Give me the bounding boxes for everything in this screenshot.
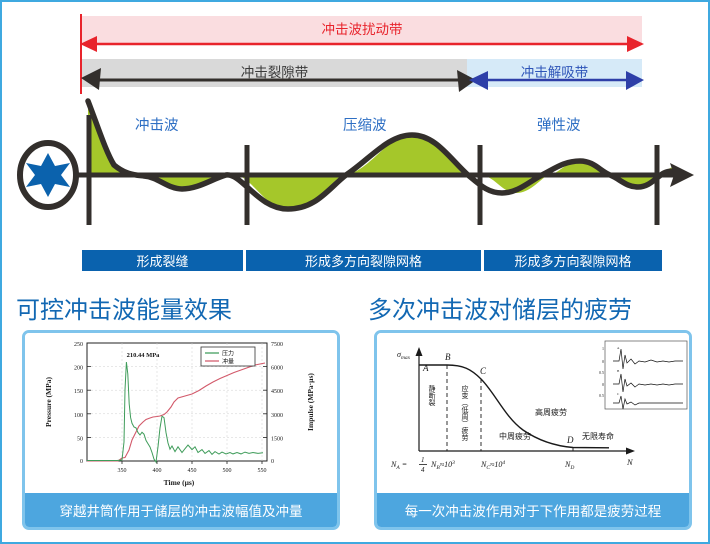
chart-sn-fatigue: σmax N A B C D — [377, 333, 689, 493]
legend-label-pressure: 压力 — [222, 350, 234, 358]
x-axis-title: Time (µs) — [164, 478, 195, 487]
svg-text:1: 1 — [421, 456, 425, 464]
sn-point-c: C — [480, 366, 487, 376]
sn-x-tick-labels: NA = 1 4 NB≈103 NC≈104 ND — [390, 456, 574, 474]
waveform-graphic — [2, 97, 708, 227]
y-axis-left-title: Pressure (MPa) — [44, 377, 53, 427]
svg-text:1: 1 — [602, 346, 604, 351]
y-axis-right-ticks: 7500 6000 4500 3000 1500 0 — [271, 342, 283, 465]
panel-pressure-impulse: 250 200 150 100 50 0 — [22, 330, 340, 530]
peak-annotation: 210.44 MPa — [127, 352, 161, 359]
svg-text:350: 350 — [118, 468, 127, 474]
sn-y-axis-title: σmax — [397, 350, 411, 361]
source-marker — [20, 143, 76, 207]
slide-root: 冲击波扰动带 冲击裂隙带 冲击解吸带 — [0, 0, 710, 544]
svg-text:250: 250 — [74, 342, 83, 348]
caption-fatigue: 每一次冲击波作用对于下作用都是疲劳过程 — [377, 493, 689, 527]
section-fatigue: 多次冲击波对储层的疲劳 σmax N — [360, 290, 708, 542]
chart-pressure-impulse: 250 200 150 100 50 0 — [25, 333, 337, 493]
sn-x-arrowhead — [626, 448, 635, 455]
sn-zone-static: 静断裂 — [428, 384, 436, 407]
svg-text:NC≈104: NC≈104 — [480, 459, 505, 471]
svg-text:3000: 3000 — [271, 413, 283, 419]
y-axis-right-title: Impulse (MPa·µs) — [306, 373, 315, 431]
y-axis-left-ticks: 250 200 150 100 50 0 — [74, 342, 83, 465]
svg-text:7500: 7500 — [271, 342, 283, 348]
sn-point-b: B — [445, 352, 451, 362]
chart-legend: 压力 冲量 — [201, 347, 255, 366]
sn-y-arrowhead — [416, 347, 423, 356]
sn-zone-lowcycle: 应变（低周）疲劳 — [461, 384, 469, 442]
svg-text:550: 550 — [258, 468, 267, 474]
sn-point-d: D — [566, 435, 574, 445]
svg-text:500: 500 — [223, 468, 232, 474]
legend-label-impulse: 冲量 — [222, 358, 234, 366]
caption-energy-effect: 穿越井筒作用于储层的冲击波幅值及冲量 — [25, 493, 337, 527]
svg-text:NA =: NA = — [390, 460, 407, 471]
sn-x-axis-title: N — [626, 457, 634, 467]
svg-text:0: 0 — [602, 382, 604, 387]
process-bar-2: 形成多方向裂隙网格 — [246, 250, 481, 271]
waveform-inset: 1 0 A 0.5 0 B 0.5 C — [599, 341, 687, 409]
section-title-fatigue: 多次冲击波对储层的疲劳 — [368, 290, 632, 325]
sn-zone-highcycle: 高周疲劳 — [535, 407, 567, 417]
svg-text:4: 4 — [421, 466, 425, 474]
svg-text:0.5: 0.5 — [599, 393, 604, 398]
svg-text:0.5: 0.5 — [599, 370, 604, 375]
svg-text:1500: 1500 — [271, 436, 283, 442]
svg-text:450: 450 — [188, 468, 197, 474]
svg-text:50: 50 — [77, 436, 83, 442]
sn-zone-infinite: 无限寿命 — [582, 431, 614, 441]
fracture-arrow — [81, 68, 476, 92]
desorption-arrow — [469, 71, 644, 90]
svg-text:0: 0 — [80, 459, 83, 465]
svg-text:400: 400 — [153, 468, 162, 474]
svg-text:6000: 6000 — [271, 366, 283, 372]
wave-fill — [88, 101, 684, 209]
svg-text:0: 0 — [271, 459, 274, 465]
svg-text:150: 150 — [74, 389, 83, 395]
section-energy-effect: 可控冲击波能量效果 — [8, 290, 356, 542]
panel-sn-curve: σmax N A B C D — [374, 330, 692, 530]
sn-point-a: A — [422, 363, 429, 373]
svg-text:4500: 4500 — [271, 389, 283, 395]
svg-text:NB≈103: NB≈103 — [430, 460, 455, 471]
svg-text:100: 100 — [74, 413, 83, 419]
section-title-energy: 可控冲击波能量效果 — [16, 290, 232, 325]
sn-zone-midcycle: 中周疲劳 — [499, 431, 531, 441]
shockwave-zone-diagram: 冲击波扰动带 冲击裂隙带 冲击解吸带 — [2, 2, 708, 286]
svg-text:ND: ND — [564, 460, 574, 471]
disturbance-arrow — [80, 36, 644, 52]
process-bar-3: 形成多方向裂隙网格 — [484, 250, 662, 271]
process-bar-1: 形成裂缝 — [82, 250, 243, 271]
svg-text:200: 200 — [74, 366, 83, 372]
x-axis-ticks: 350 400 450 500 550 — [118, 468, 267, 474]
svg-text:0: 0 — [602, 359, 604, 364]
